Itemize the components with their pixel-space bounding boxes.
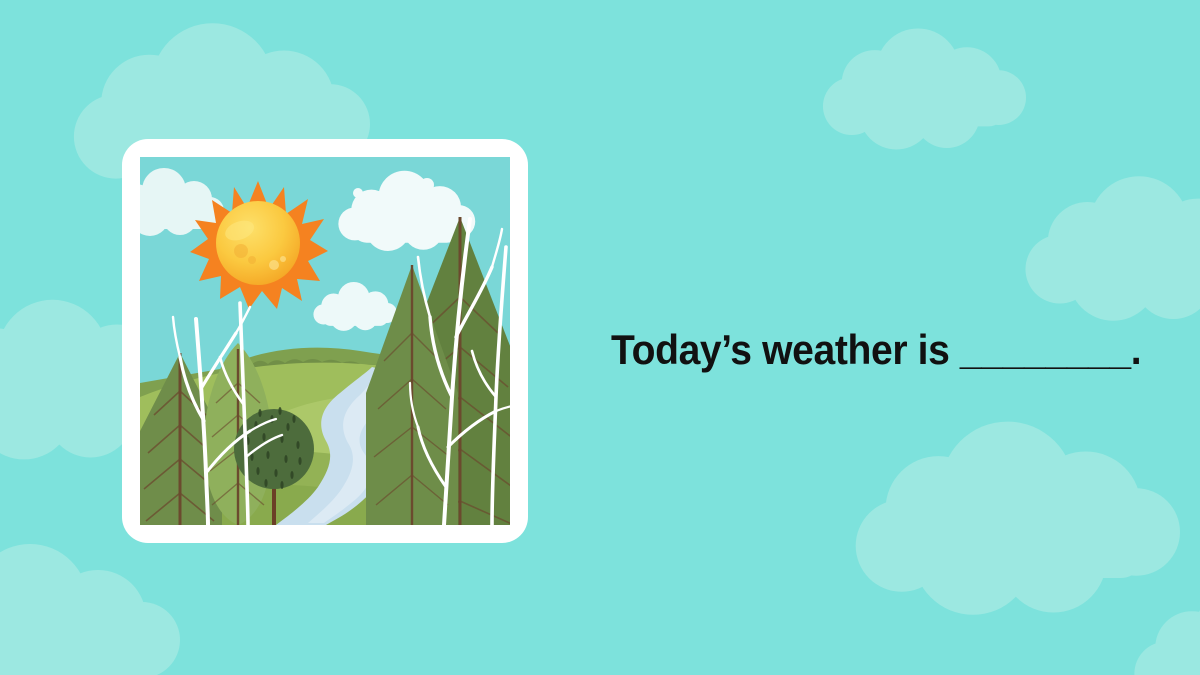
cloud-decoration-bottom-right (856, 422, 1180, 615)
slide-canvas: Today’s weather is ________. (0, 0, 1200, 675)
cloud-decoration-left-bottom (0, 544, 180, 675)
weather-illustration (140, 157, 510, 525)
cloud-decoration-right-mid (1025, 176, 1200, 320)
cloud-decoration-bottom-far-right (1134, 587, 1200, 675)
caption-text: Today’s weather is ________. (611, 329, 1141, 371)
sun-disc (216, 201, 300, 285)
caption: Today’s weather is ________. (611, 322, 1131, 378)
cloud-decoration-top-right (823, 28, 1026, 149)
photo-frame (122, 139, 528, 543)
